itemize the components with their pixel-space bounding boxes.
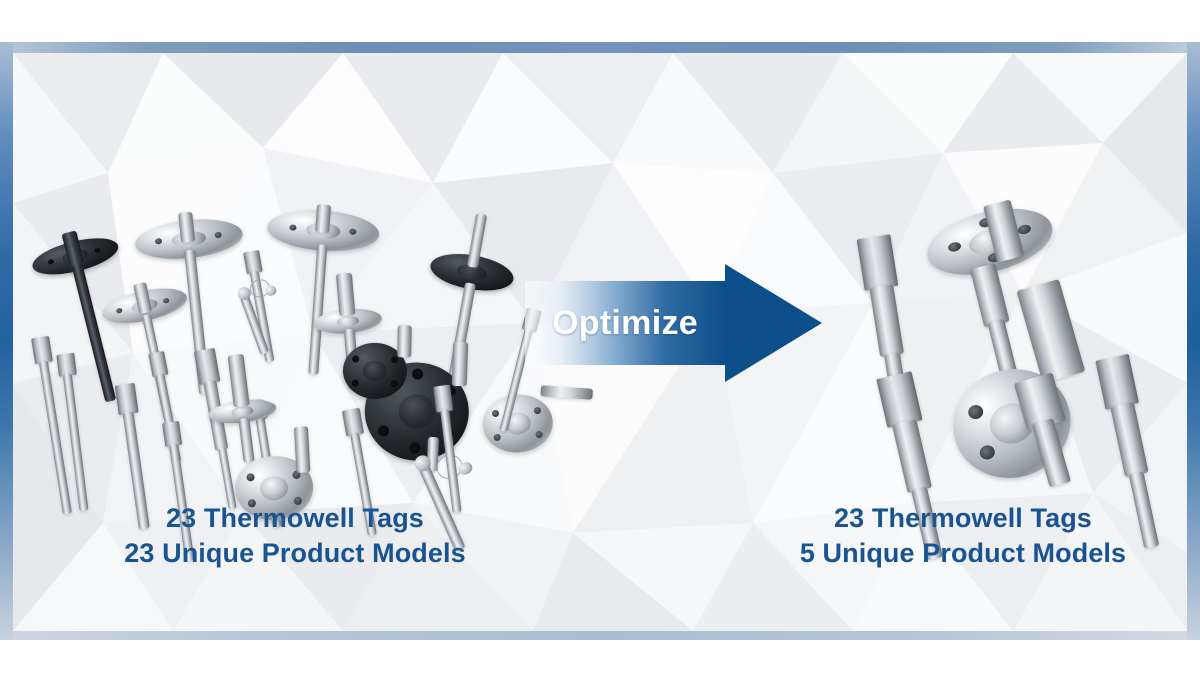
arrow-label: Optimize (552, 304, 698, 343)
caption-left-line1: 23 Thermowell Tags (55, 501, 535, 536)
arrow-label-wrap: Optimize (525, 281, 725, 365)
banner-canvas: Optimize 23 Thermowell Tags 23 Unique Pr… (13, 53, 1187, 631)
banner-image: Optimize 23 Thermowell Tags 23 Unique Pr… (0, 0, 1200, 675)
framed-banner: Optimize 23 Thermowell Tags 23 Unique Pr… (0, 42, 1200, 640)
caption-right-line1: 23 Thermowell Tags (723, 501, 1187, 536)
frame-band-top (0, 42, 1200, 53)
caption-left-line2: 23 Unique Product Models (55, 536, 535, 571)
caption-right-line2: 5 Unique Product Models (723, 536, 1187, 571)
caption-left: 23 Thermowell Tags 23 Unique Product Mod… (55, 501, 535, 571)
caption-right: 23 Thermowell Tags 5 Unique Product Mode… (723, 501, 1187, 571)
frame-band-right (1187, 42, 1200, 640)
frame-band-left (0, 42, 13, 640)
frame-band-bottom (0, 631, 1200, 640)
